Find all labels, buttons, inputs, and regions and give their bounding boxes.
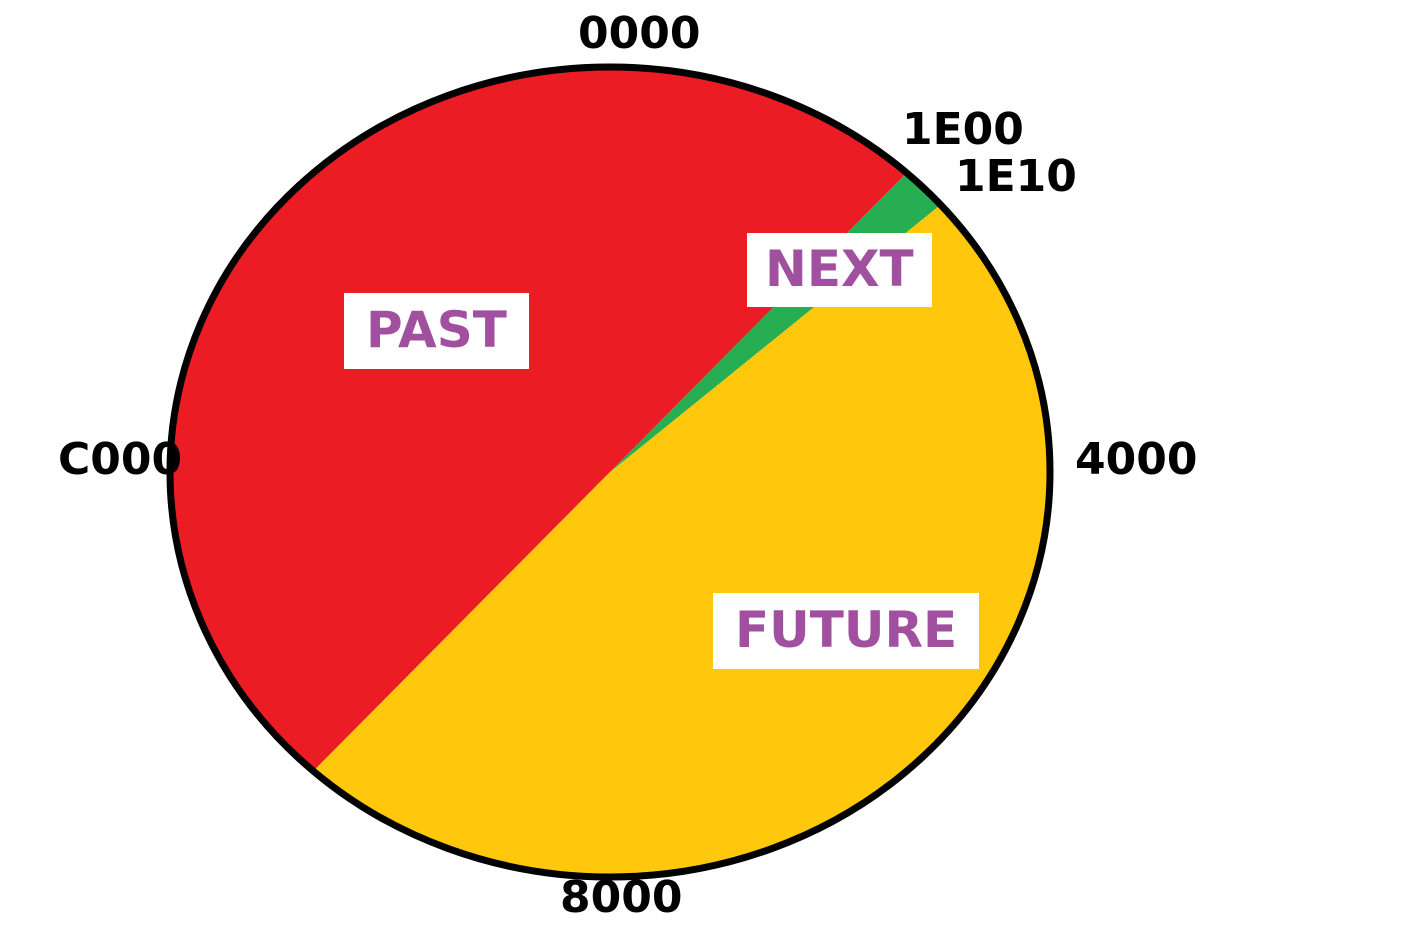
region-label-next: NEXT (747, 233, 932, 307)
tick-label-1e10: 1E10 (955, 155, 1077, 199)
tick-label-1e00: 1E00 (902, 108, 1024, 152)
tick-label-0000: 0000 (578, 12, 700, 56)
region-label-future: FUTURE (713, 593, 979, 669)
diagram-canvas: 0000 1E00 1E10 4000 8000 C000 PAST NEXT … (0, 0, 1404, 949)
tick-label-4000: 4000 (1075, 438, 1197, 482)
region-label-past: PAST (344, 293, 529, 369)
tick-label-8000: 8000 (560, 876, 682, 920)
wheel-wedges (172, 68, 1050, 877)
tick-label-c000: C000 (58, 438, 182, 482)
